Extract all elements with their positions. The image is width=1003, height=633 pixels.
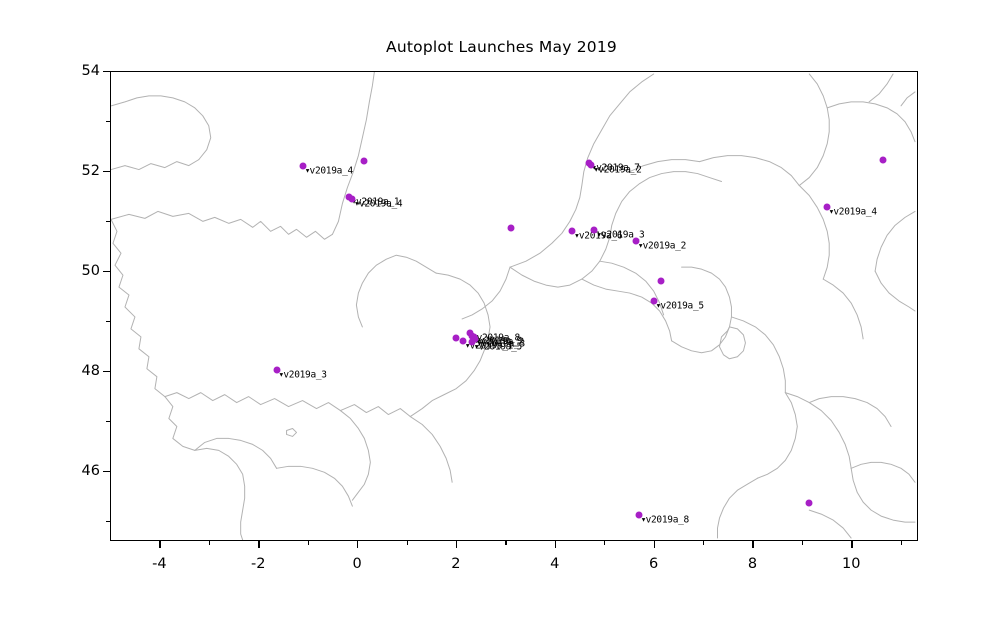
x-axis-tick bbox=[209, 541, 210, 545]
x-axis-tick bbox=[258, 541, 259, 548]
x-axis-tick bbox=[752, 541, 753, 548]
x-axis-tick bbox=[407, 541, 408, 545]
x-axis-tick-label: -2 bbox=[251, 556, 265, 572]
data-point-marker bbox=[508, 225, 515, 232]
data-point-marker bbox=[879, 156, 886, 163]
y-axis-tick bbox=[103, 271, 110, 272]
x-axis-tick bbox=[505, 541, 506, 545]
y-axis-tick bbox=[106, 321, 110, 322]
x-axis-tick bbox=[604, 541, 605, 545]
x-axis-tick bbox=[851, 541, 852, 548]
y-axis-tick bbox=[103, 471, 110, 472]
x-axis-tick bbox=[555, 541, 556, 548]
x-axis-tick bbox=[159, 541, 160, 548]
x-axis-tick-label: 10 bbox=[842, 556, 860, 572]
data-point-label: v2019a_2 bbox=[639, 240, 686, 251]
data-point-marker bbox=[361, 158, 368, 165]
data-point-label: v2019a_4 bbox=[355, 198, 402, 209]
x-axis-tick bbox=[654, 541, 655, 548]
x-axis-tick bbox=[901, 541, 902, 545]
y-axis-tick bbox=[106, 421, 110, 422]
basemap-coastlines bbox=[111, 72, 917, 540]
x-axis-tick bbox=[703, 541, 704, 545]
map-plot-area: v2019a_4v2019a_1v2019a_4v2019a_7v2019a_2… bbox=[110, 71, 918, 541]
data-point-marker bbox=[657, 278, 664, 285]
data-point-label: v2019a_2 bbox=[594, 164, 641, 175]
y-axis-tick-label: 46 bbox=[48, 463, 100, 479]
data-point-label: v2019a_3 bbox=[280, 369, 327, 380]
x-axis-tick bbox=[456, 541, 457, 548]
figure-canvas: Autoplot Launches May 2019 bbox=[0, 0, 1003, 633]
x-axis-tick-label: 2 bbox=[451, 556, 460, 572]
data-point-marker bbox=[805, 500, 812, 507]
y-axis-tick bbox=[103, 371, 110, 372]
x-axis-tick-label: 0 bbox=[352, 556, 361, 572]
x-axis-tick-label: 4 bbox=[550, 556, 559, 572]
y-axis-tick bbox=[106, 121, 110, 122]
y-axis-tick bbox=[106, 521, 110, 522]
y-axis-tick-label: 52 bbox=[48, 163, 100, 179]
data-point-label: v2019a_8 bbox=[642, 514, 689, 525]
x-axis-tick-label: 8 bbox=[748, 556, 757, 572]
data-point-label: v2019a_4 bbox=[830, 207, 877, 218]
y-axis-tick bbox=[103, 171, 110, 172]
x-axis-tick bbox=[802, 541, 803, 545]
x-axis-tick bbox=[357, 541, 358, 548]
data-point-label: v2019a_4 bbox=[306, 166, 353, 177]
y-axis-tick bbox=[106, 221, 110, 222]
y-axis-tick-label: 54 bbox=[48, 63, 100, 79]
x-axis-tick bbox=[308, 541, 309, 545]
x-axis-tick-label: 6 bbox=[649, 556, 658, 572]
x-axis-tick-label: -4 bbox=[152, 556, 166, 572]
y-axis-tick-label: 50 bbox=[48, 263, 100, 279]
y-axis-tick bbox=[103, 71, 110, 72]
page-title: Autoplot Launches May 2019 bbox=[0, 38, 1003, 56]
data-point-label: v2019a_5 bbox=[657, 301, 704, 312]
data-point-label: v2019a_5 bbox=[475, 342, 522, 353]
y-axis-tick-label: 48 bbox=[48, 363, 100, 379]
